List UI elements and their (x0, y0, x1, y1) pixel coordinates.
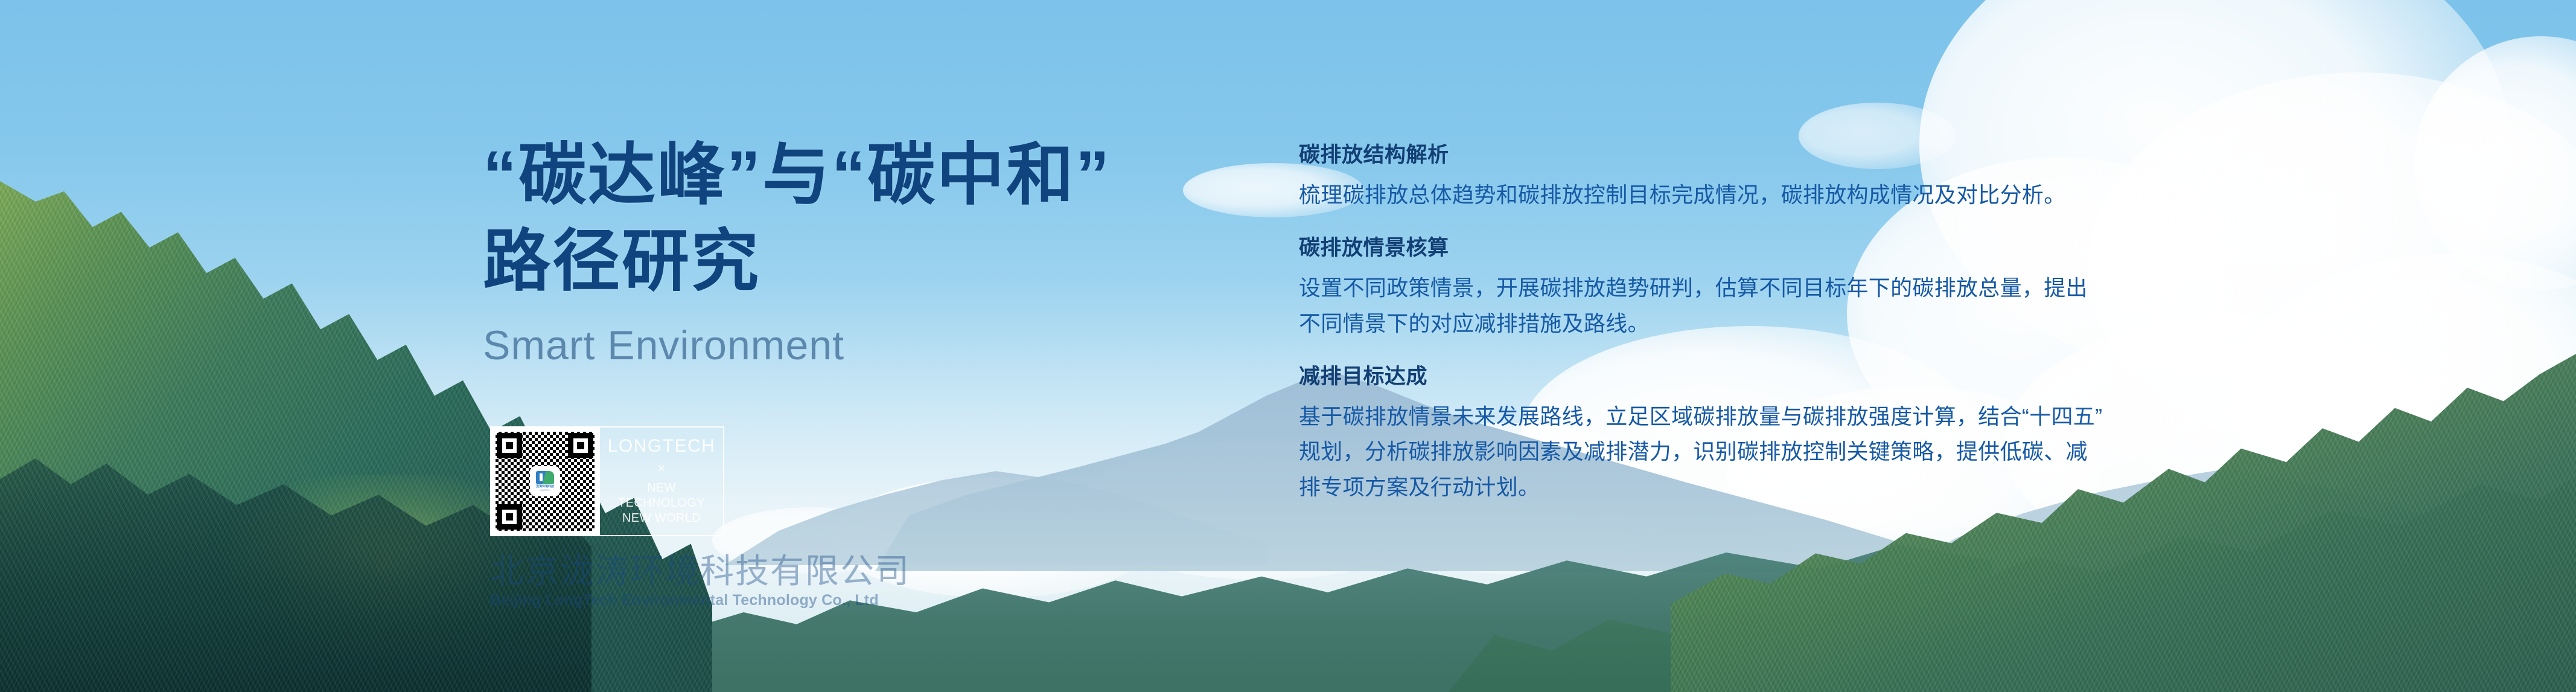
headline-line-2: 路径研究 (483, 218, 1111, 304)
info-panel: 碳排放结构解析 梳理碳排放总体趋势和碳排放控制目标完成情况，碳排放构成情况及对比… (1299, 143, 2204, 505)
qr-finder-icon (497, 433, 522, 458)
info-body-line: 排专项方案及行动计划。 (1299, 470, 2204, 505)
logo-text-cn: 泷涛环境科技 (536, 485, 554, 489)
logo-mark (536, 471, 554, 484)
info-body-line: 梳理碳排放总体趋势和碳排放控制目标完成情况，碳排放构成情况及对比分析。 (1299, 178, 2204, 213)
brand-tagline: NEW TECHNOLOGY NEW WORLD (618, 481, 705, 526)
carbon-peak-banner: “碳达峰”与“碳中和” 路径研究 Smart Environment 泷涛环境科… (0, 0, 2576, 692)
info-body: 梳理碳排放总体趋势和碳排放控制目标完成情况，碳排放构成情况及对比分析。 (1299, 178, 2204, 213)
info-body-line: 规划，分析碳排放影响因素及减排潜力，识别碳排放控制关键策略，提供低碳、减 (1299, 434, 2204, 469)
brand-tagline-line-3: NEW WORLD (618, 511, 705, 526)
info-heading: 减排目标达成 (1299, 364, 2204, 389)
logo-text-en: LONGTECH (540, 490, 550, 492)
info-section-2: 碳排放情景核算 设置不同政策情景，开展碳排放趋势研判，估算不同目标年下的碳排放总… (1299, 235, 2204, 341)
headline-block: “碳达峰”与“碳中和” 路径研究 Smart Environment (483, 132, 1111, 369)
qr-code-pattern: 泷涛环境科技 LONGTECH (496, 432, 595, 531)
brand-name: LONGTECH (608, 437, 716, 455)
info-section-1: 碳排放结构解析 梳理碳排放总体趋势和碳排放控制目标完成情况，碳排放构成情况及对比… (1299, 143, 2204, 213)
brand-tagline-line-1: NEW (618, 481, 705, 496)
info-section-3: 减排目标达成 基于碳排放情景未来发展路线，立足区域碳排放量与碳排放强度计算，结合… (1299, 364, 2204, 505)
brand-card: 泷涛环境科技 LONGTECH LONGTECH × NEW TECHNOLOG… (490, 426, 724, 536)
cloud-shape (2414, 36, 2576, 290)
brand-panel: LONGTECH × NEW TECHNOLOGY NEW WORLD (600, 426, 724, 536)
brand-tagline-line-2: TECHNOLOGY (618, 496, 705, 511)
qr-finder-icon (568, 433, 593, 458)
info-heading: 碳排放结构解析 (1299, 143, 2204, 168)
info-heading: 碳排放情景核算 (1299, 235, 2204, 261)
company-logo-icon: 泷涛环境科技 LONGTECH (531, 467, 559, 495)
info-body-line: 设置不同政策情景，开展碳排放趋势研判，估算不同目标年下的碳排放总量，提出 (1299, 271, 2204, 306)
brand-separator-icon: × (658, 462, 666, 475)
info-body-line: 基于碳排放情景未来发展路线，立足区域碳排放量与碳排放强度计算，结合“十四五” (1299, 399, 2204, 434)
info-body: 设置不同政策情景，开展碳排放趋势研判，估算不同目标年下的碳排放总量，提出 不同情… (1299, 271, 2204, 341)
info-body-line: 不同情景下的对应减排措施及路线。 (1299, 306, 2204, 341)
headline-subtitle: Smart Environment (483, 322, 1111, 369)
qr-finder-icon (497, 504, 522, 530)
headline-line-1: “碳达峰”与“碳中和” (483, 132, 1111, 218)
info-body: 基于碳排放情景未来发展路线，立足区域碳排放量与碳排放强度计算，结合“十四五” 规… (1299, 399, 2204, 505)
qr-code[interactable]: 泷涛环境科技 LONGTECH (490, 426, 600, 536)
